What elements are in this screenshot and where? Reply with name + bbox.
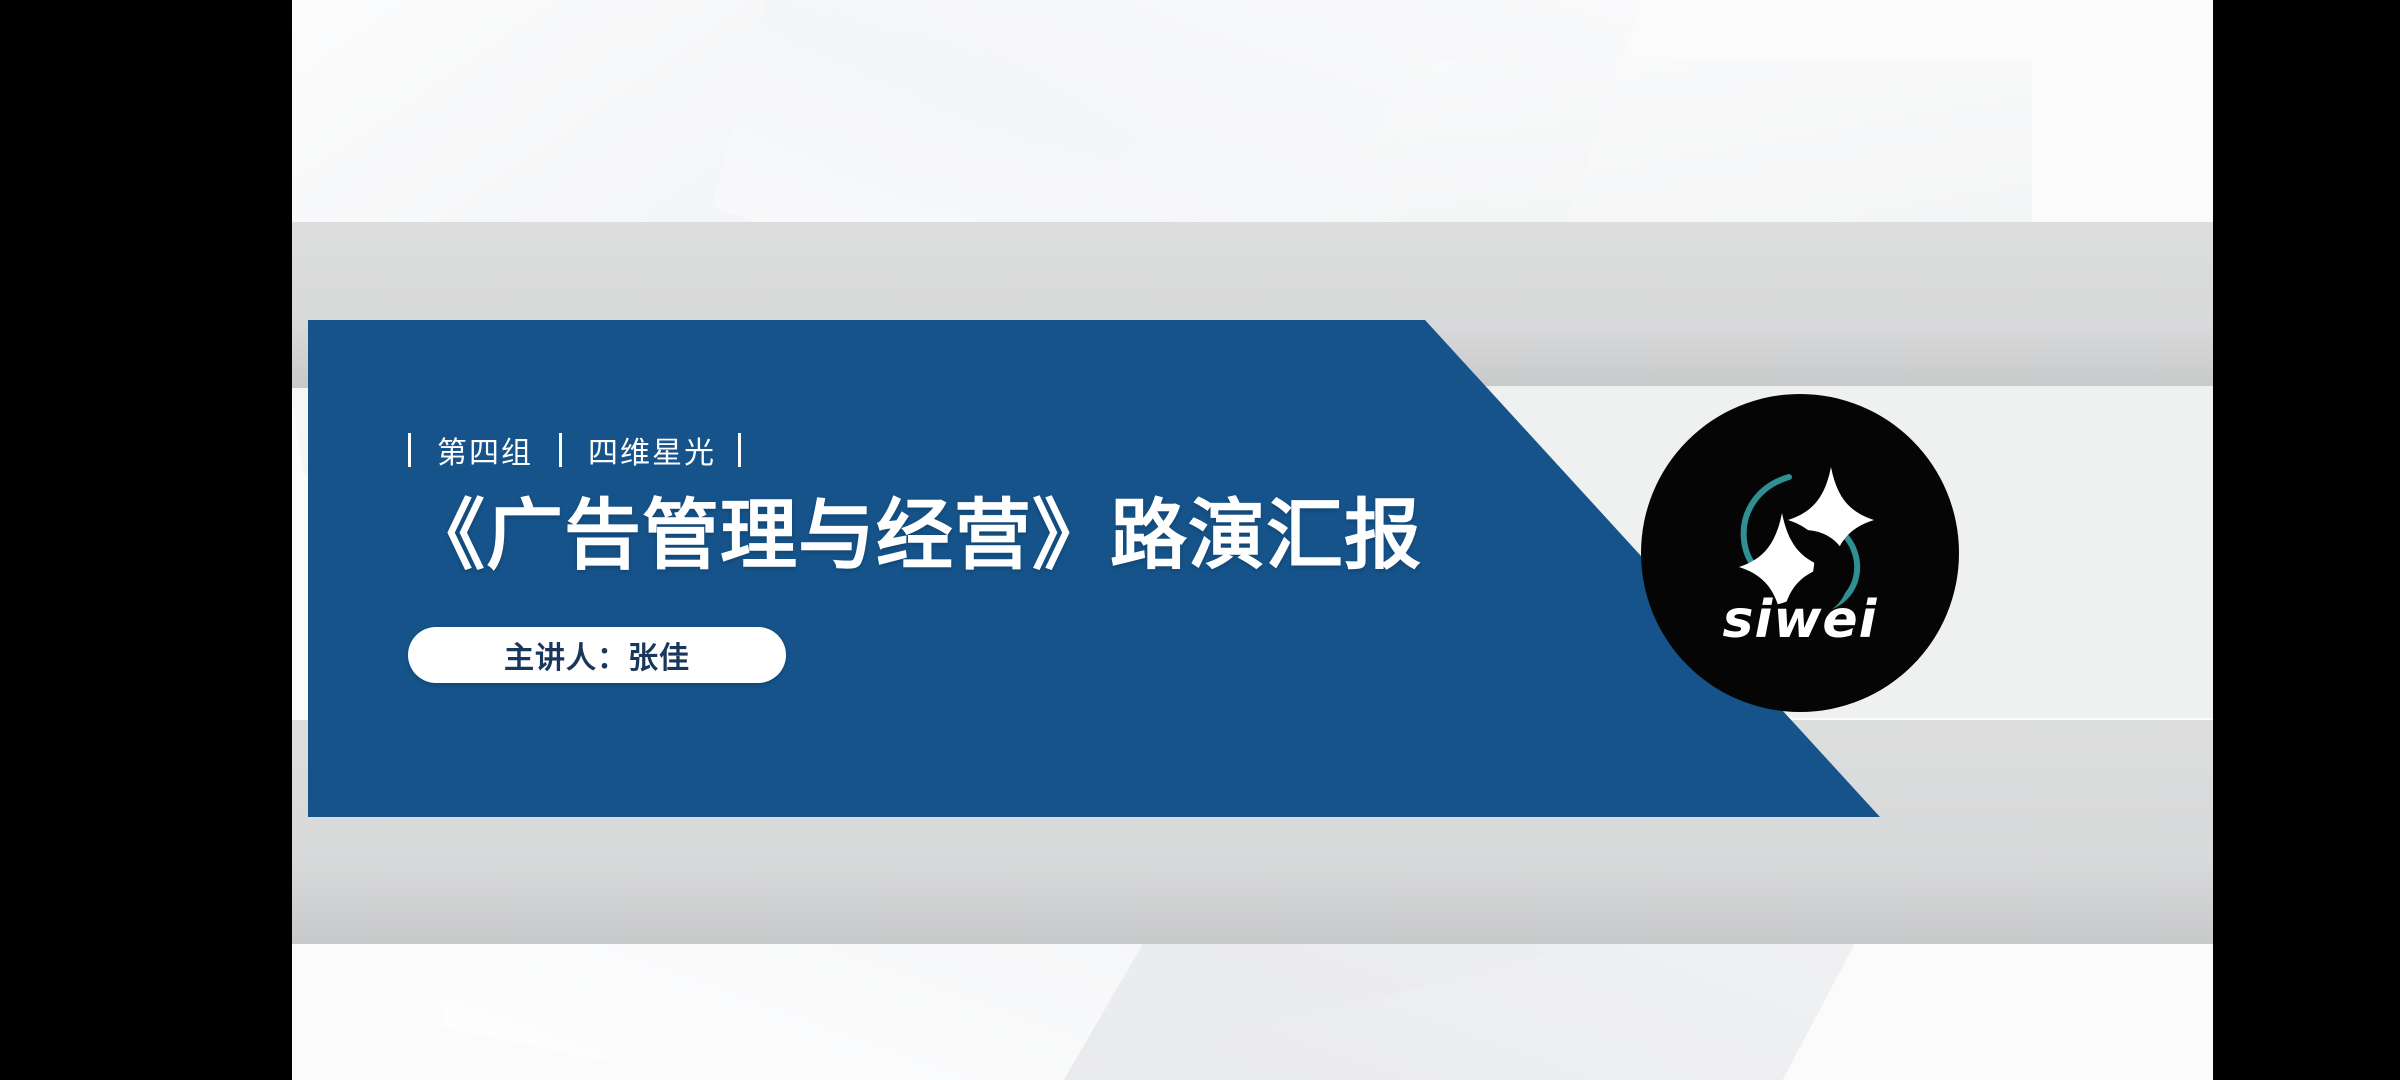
banner-content: 第四组 四维星光 《广告管理与经营》路演汇报 主讲人：张佳 [408, 430, 1408, 683]
kicker-line: 第四组 四维星光 [408, 430, 1408, 470]
logo-wordmark: siwei [1641, 590, 1959, 650]
letterbox-right [2213, 0, 2400, 1080]
siwei-star-mark-icon [1641, 394, 1959, 712]
title-slide: 第四组 四维星光 《广告管理与经营》路演汇报 主讲人：张佳 [292, 0, 2213, 1080]
kicker-group-label: 第四组 [411, 428, 559, 472]
presenter-badge: 主讲人：张佳 [408, 627, 786, 683]
kicker-divider-icon [738, 433, 741, 467]
presentation-viewer: 第四组 四维星光 《广告管理与经营》路演汇报 主讲人：张佳 [0, 0, 2400, 1080]
slide-title: 《广告管理与经营》路演汇报 [408, 492, 1408, 581]
kicker-team-label: 四维星光 [562, 428, 738, 472]
letterbox-left [0, 0, 292, 1080]
brand-logo: siwei [1641, 394, 1959, 712]
